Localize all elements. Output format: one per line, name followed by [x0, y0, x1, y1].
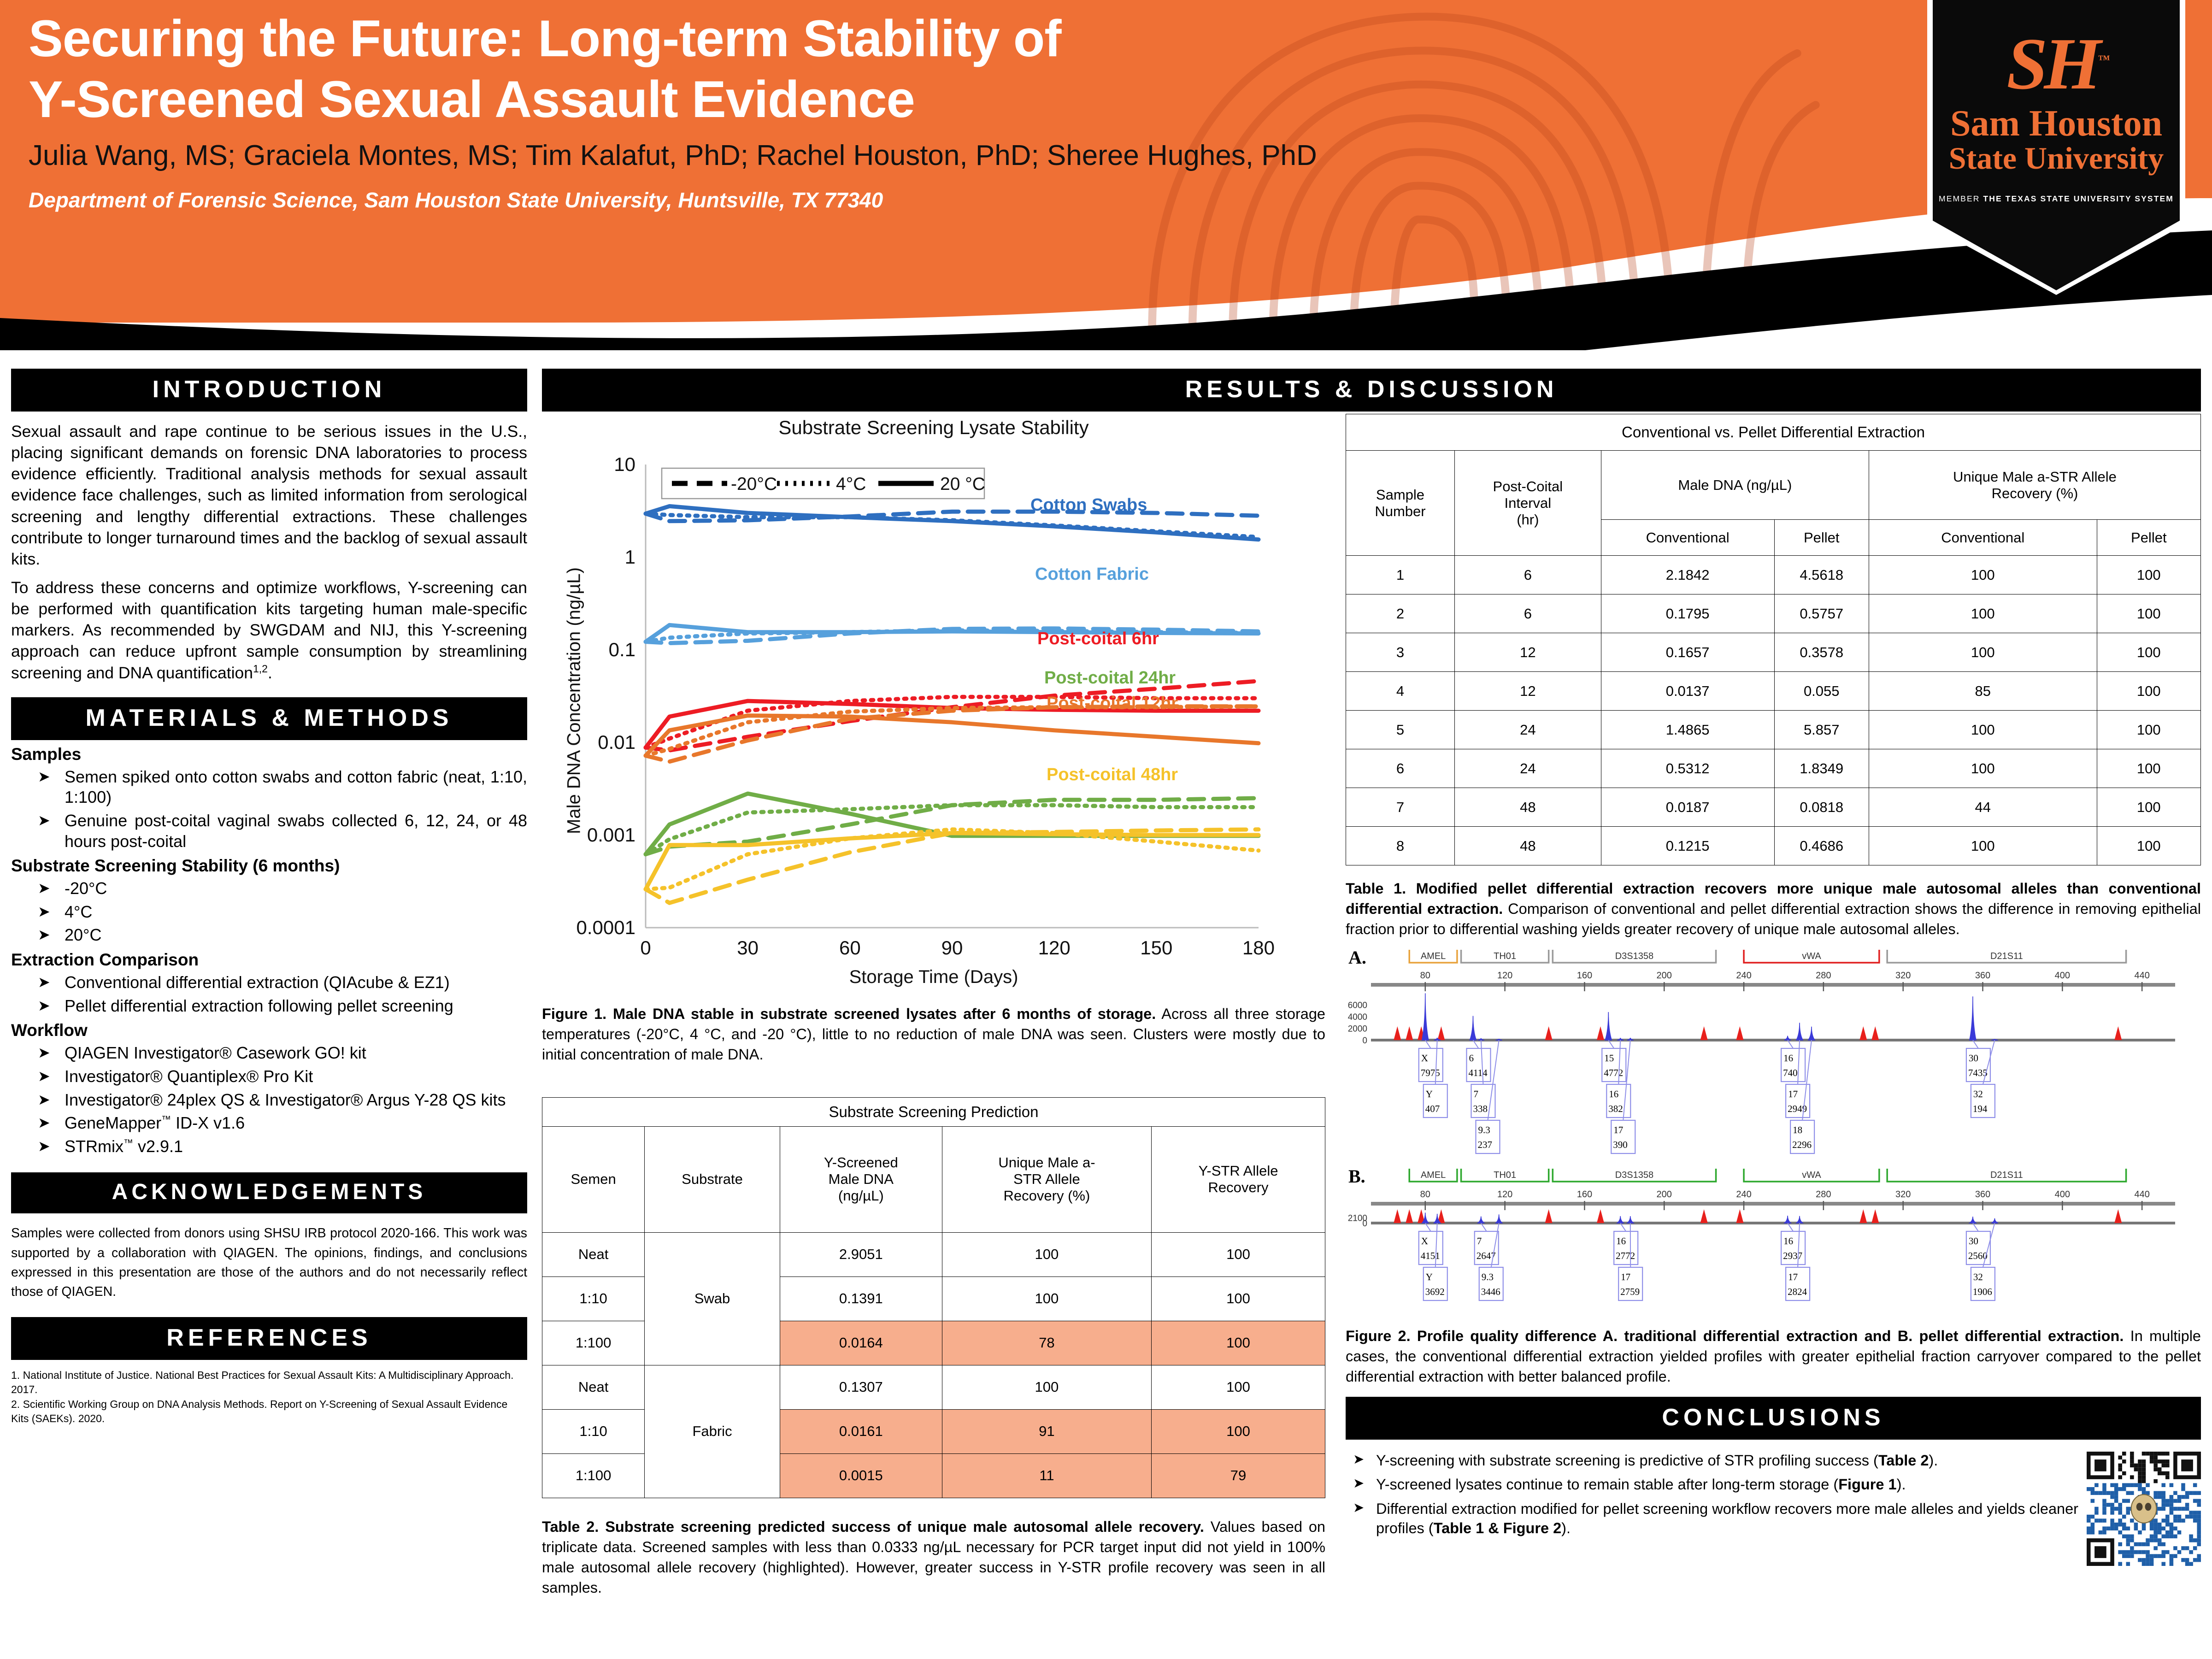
list-item: ➤Investigator® Quantiplex® Pro Kit — [11, 1066, 527, 1087]
table2-cell-ystr: 100 — [1152, 1232, 1325, 1277]
author-list: Julia Wang, MS; Graciela Montes, MS; Tim… — [29, 140, 1688, 171]
table1-group-male-dna: Male DNA (ng/µL) — [1601, 451, 1869, 520]
table2-col-substrate: Substrate — [645, 1126, 780, 1232]
epg-allele-rfu: 390 — [1613, 1139, 1628, 1150]
title-line-2: Y-Screened Sexual Assault Evidence — [29, 69, 1688, 130]
table-row: 4120.01370.05585100 — [1346, 672, 2201, 711]
table1-cell-rec-pellet: 100 — [2097, 672, 2200, 711]
list-item-label: 4°C — [65, 902, 92, 921]
epg-axis-tick: 360 — [1975, 1189, 1990, 1200]
list-item-label: Genuine post-coital vaginal swabs collec… — [65, 811, 527, 851]
table2-cell-male-dna: 0.1391 — [780, 1277, 942, 1321]
epg-allele-rfu: 4772 — [1604, 1067, 1623, 1078]
section-header-acknowledgements: ACKNOWLEDGEMENTS — [11, 1172, 527, 1213]
table2-col-male-dna: Y-ScreenedMale DNA(ng/µL) — [780, 1126, 942, 1232]
epg-allele-number: 15 — [1604, 1053, 1614, 1064]
epg-allele-number: 7 — [1477, 1235, 1482, 1247]
epg-allele-rfu: 740 — [1783, 1067, 1798, 1078]
chart-legend-label: -20°C — [731, 474, 777, 494]
epg-allele-rfu: 338 — [1473, 1103, 1488, 1114]
list-item: ➤Investigator® 24plex QS & Investigator®… — [11, 1090, 527, 1111]
epg-allele-rfu: 2759 — [1620, 1286, 1640, 1297]
arrow-bullet-icon: ➤ — [38, 1067, 50, 1086]
table1-cell-dna-conv: 1.4865 — [1601, 711, 1774, 749]
epg-panel-letter: B. — [1348, 1169, 1365, 1187]
table1-cell-sample: 8 — [1346, 827, 1455, 865]
table1-cell-rec-pellet: 100 — [2097, 594, 2200, 633]
table-row: 162.18424.5618100100 — [1346, 556, 2201, 594]
section-header-references: REFERENCES — [11, 1317, 527, 1360]
table2-cell-semen: 1:100 — [542, 1453, 645, 1498]
table1-cell-sample: 5 — [1346, 711, 1455, 749]
table1-cell-dna-conv: 0.1657 — [1601, 633, 1774, 672]
epg-allele-number: 9.3 — [1482, 1271, 1494, 1282]
table2-cell-semen: 1:10 — [542, 1409, 645, 1453]
arrow-bullet-icon: ➤ — [1353, 1451, 1364, 1469]
affiliation: Department of Forensic Science, Sam Hous… — [29, 188, 1688, 212]
section-header-conclusions: CONCLUSIONS — [1346, 1397, 2201, 1440]
epg-locus-box: D21S11 — [1887, 950, 2126, 963]
epg-locus-label: vWA — [1802, 1170, 1821, 1180]
reference-item: 1. National Institute of Justice. Nation… — [11, 1368, 527, 1397]
chart-y-tick-label: 0.01 — [598, 731, 635, 753]
epg-locus-label: D21S11 — [1990, 951, 2023, 961]
epg-axis-tick: 360 — [1975, 971, 1990, 981]
epg-allele-peak — [1796, 1216, 1803, 1223]
table2-cell-ystr: 100 — [1152, 1409, 1325, 1453]
table1-cell-dna-pellet: 4.5618 — [1774, 556, 1869, 594]
epg-locus-label: TH01 — [1494, 1170, 1516, 1180]
epg-allele-rfu: 7975 — [1421, 1067, 1440, 1078]
results-bar-label: RESULTS & DISCUSSION — [542, 369, 2201, 412]
arrow-bullet-icon: ➤ — [38, 879, 50, 898]
conclusion-reference: Table 1 & Figure 2 — [1434, 1520, 1562, 1536]
arrow-bullet-icon: ➤ — [38, 1114, 50, 1132]
table1-col-interval: Post-CoitalInterval(hr) — [1454, 451, 1601, 556]
list-item: ➤Genuine post-coital vaginal swabs colle… — [11, 811, 527, 852]
chart-x-tick-label: 180 — [1242, 937, 1275, 959]
table1-caption: Table 1. Modified pellet differential ex… — [1346, 878, 2201, 940]
table1-cell-sample: 4 — [1346, 672, 1455, 711]
epg-locus-box: vWA — [1744, 950, 1879, 963]
epg-allele-rfu: 194 — [1973, 1103, 1988, 1114]
right-column: Conventional vs. Pellet Differential Ext… — [1346, 414, 2201, 1566]
table1-extraction-comparison: Conventional vs. Pellet Differential Ext… — [1346, 414, 2201, 865]
table2-cell-semen: 1:10 — [542, 1277, 645, 1321]
epg-allele-peak — [1991, 1218, 1998, 1223]
epg-allele-rfu: 2824 — [1788, 1286, 1807, 1297]
list-item-label: 20°C — [65, 925, 101, 944]
table1-cell-dna-pellet: 0.5757 — [1774, 594, 1869, 633]
epg-locus-box: vWA — [1744, 1169, 1879, 1182]
table1-cell-rec-conv: 100 — [1869, 711, 2097, 749]
table1-sub-conv-rec: Conventional — [1869, 520, 2097, 556]
epg-allele-rfu: 237 — [1477, 1139, 1492, 1150]
epg-locus-label: TH01 — [1494, 951, 1516, 961]
epg-allele-rfu: 3446 — [1481, 1286, 1500, 1297]
table2-caption: Table 2. Substrate screening predicted s… — [542, 1517, 1325, 1598]
table2-cell-substrate: Swab — [645, 1232, 780, 1365]
epg-locus-box: D3S1358 — [1553, 950, 1716, 963]
list-item: ➤20°C — [11, 925, 527, 946]
epg-allele-peak — [1422, 993, 1429, 1040]
epg-axis-tick: 320 — [1895, 1189, 1911, 1200]
epg-allele-peak — [1796, 1023, 1803, 1040]
arrow-bullet-icon: ➤ — [1353, 1475, 1364, 1493]
epg-allele-peak — [1605, 1012, 1612, 1040]
intro-p2-end: . — [268, 664, 272, 682]
table1-cell-dna-pellet: 5.857 — [1774, 711, 1869, 749]
table1-cell-interval: 6 — [1454, 594, 1601, 633]
chart-group-label: Post-coital 6hr — [1037, 629, 1159, 648]
arrow-bullet-icon: ➤ — [38, 973, 50, 992]
table2-cell-astr: 100 — [942, 1232, 1151, 1277]
table1-cell-dna-pellet: 0.4686 — [1774, 827, 1869, 865]
epg-panel-a: A.AMELTH01D3S1358vWAD21S1180120160200240… — [1346, 950, 2201, 1166]
list-item-label: -20°C — [65, 879, 107, 898]
arrow-bullet-icon: ➤ — [38, 1137, 50, 1156]
table1-cell-interval: 24 — [1454, 749, 1601, 788]
epg-allele-number: X — [1421, 1053, 1428, 1064]
list-item: ➤-20°C — [11, 878, 527, 899]
chart-group-label: Cotton Fabric — [1035, 565, 1149, 584]
conclusion-text-end: ). — [1561, 1520, 1571, 1536]
materials-group-heading: Samples — [11, 745, 527, 764]
epg-allele-number: 17 — [1621, 1271, 1630, 1282]
table1-cell-interval: 12 — [1454, 672, 1601, 711]
table1-cell-rec-pellet: 100 — [2097, 749, 2200, 788]
list-item-label: Investigator® Quantiplex® Pro Kit — [65, 1067, 313, 1086]
table2-cell-ystr: 100 — [1152, 1321, 1325, 1365]
conclusion-item: ➤Y-screening with substrate screening is… — [1346, 1451, 2078, 1470]
epg-allele-number: 16 — [1783, 1053, 1793, 1064]
member-prefix: MEMBER — [1939, 194, 1983, 203]
section-header-results: RESULTS & DISCUSSION — [542, 369, 2201, 412]
epg-panel-b: B.AMELTH01D3S1358vWAD21S1180120160200240… — [1346, 1169, 2201, 1321]
table1-sub-conv-dna: Conventional — [1601, 520, 1774, 556]
arrow-bullet-icon: ➤ — [38, 1091, 50, 1109]
table2-cell-astr: 100 — [942, 1277, 1151, 1321]
epg-allele-rfu: 2296 — [1792, 1139, 1812, 1150]
table1-cell-sample: 6 — [1346, 749, 1455, 788]
conclusions-body: ➤Y-screening with substrate screening is… — [1346, 1446, 2201, 1566]
epg-locus-box: AMEL — [1409, 1169, 1457, 1182]
table1-cell-rec-pellet: 100 — [2097, 827, 2200, 865]
epg-locus-box: TH01 — [1461, 950, 1549, 963]
table1-cell-rec-conv: 44 — [1869, 788, 2097, 827]
table1-cell-interval: 12 — [1454, 633, 1601, 672]
epg-axis-tick: 160 — [1577, 1189, 1592, 1200]
materials-group-list: ➤QIAGEN Investigator® Casework GO! kit➤I… — [11, 1043, 527, 1157]
epg-allele-number: 32 — [1973, 1088, 1983, 1100]
table-row: NeatSwab2.9051100100 — [542, 1232, 1325, 1277]
epg-allele-number: 18 — [1793, 1124, 1802, 1135]
chart-legend-label: 4°C — [836, 474, 866, 494]
figure2-caption-bold: Figure 2. Profile quality difference A. … — [1346, 1328, 2124, 1344]
table1-cell-interval: 24 — [1454, 711, 1601, 749]
table1-title: Conventional vs. Pellet Differential Ext… — [1346, 414, 2201, 451]
table1-cell-interval: 48 — [1454, 788, 1601, 827]
table-row: 6240.53121.8349100100 — [1346, 749, 2201, 788]
conclusion-item: ➤Differential extraction modified for pe… — [1346, 1499, 2078, 1538]
epg-allele-number: 7 — [1473, 1088, 1478, 1100]
table2-col-ystr: Y-STR AlleleRecovery — [1152, 1126, 1325, 1232]
epg-allele-call: 64114 — [1466, 1040, 1490, 1082]
epg-allele-peak — [1784, 1035, 1791, 1040]
epg-locus-box: D3S1358 — [1553, 1169, 1716, 1182]
epg-allele-rfu: 407 — [1425, 1103, 1440, 1114]
logo-name-line-2: State University — [1949, 142, 2164, 175]
epg-axis-tick: 440 — [2134, 971, 2149, 981]
table-row: 8480.12150.4686100100 — [1346, 827, 2201, 865]
table1-cell-rec-pellet: 100 — [2097, 788, 2200, 827]
chart-y-tick-label: 10 — [614, 453, 635, 475]
left-column: INTRODUCTION Sexual assault and rape con… — [11, 369, 527, 1426]
intro-paragraph-2: To address these concerns and optimize w… — [11, 577, 527, 683]
logo-name-line-1: Sam Houston — [1950, 105, 2162, 142]
chart-y-tick-label: 1 — [625, 546, 635, 568]
poster-header: Securing the Future: Long-term Stability… — [0, 0, 2212, 350]
epg-allele-call: 16740 — [1781, 1040, 1805, 1082]
table1-cell-sample: 2 — [1346, 594, 1455, 633]
figure1-caption-bold: Figure 1. Male DNA stable in substrate s… — [542, 1006, 1156, 1022]
epg-allele-peak — [1478, 1216, 1484, 1223]
materials-group-list: ➤Conventional differential extraction (Q… — [11, 972, 527, 1016]
table1-cell-dna-pellet: 0.055 — [1774, 672, 1869, 711]
materials-group-list: ➤Semen spiked onto cotton swabs and cott… — [11, 767, 527, 852]
references-list: 1. National Institute of Justice. Nation… — [11, 1368, 527, 1426]
epg-axis-tick: 200 — [1657, 971, 1672, 981]
epg-allele-peak — [1496, 1214, 1502, 1223]
table2-cell-ystr: 100 — [1152, 1277, 1325, 1321]
table2-cell-astr: 100 — [942, 1365, 1151, 1409]
table2-cell-male-dna: 0.0164 — [780, 1321, 942, 1365]
table1-cell-dna-conv: 0.5312 — [1601, 749, 1774, 788]
table2-cell-semen: 1:100 — [542, 1321, 645, 1365]
epg-locus-label: AMEL — [1421, 1170, 1446, 1180]
chart-y-tick-label: 0.001 — [587, 824, 635, 846]
chart-x-tick-label: 90 — [941, 937, 963, 959]
epg-allele-call: 154772 — [1602, 1040, 1626, 1082]
table2-cell-astr: 11 — [942, 1453, 1151, 1498]
list-item: ➤Conventional differential extraction (Q… — [11, 972, 527, 993]
epg-locus-label: D21S11 — [1990, 1170, 2023, 1180]
epg-axis-tick: 280 — [1816, 1189, 1831, 1200]
table1-cell-rec-conv: 100 — [1869, 556, 2097, 594]
arrow-bullet-icon: ➤ — [38, 926, 50, 944]
chart-y-tick-label: 0.0001 — [577, 917, 635, 938]
epg-allele-number: 16 — [1783, 1235, 1793, 1247]
list-item-label: GeneMapper™ ID-X v1.6 — [65, 1113, 245, 1132]
epg-allele-peak — [1808, 1026, 1815, 1040]
table2-col-astr: Unique Male a-STR AlleleRecovery (%) — [942, 1126, 1151, 1232]
figure1-caption: Figure 1. Male DNA stable in substrate s… — [542, 1004, 1325, 1065]
table1-cell-dna-conv: 2.1842 — [1601, 556, 1774, 594]
table2-caption-bold: Table 2. Substrate screening predicted s… — [542, 1518, 1204, 1535]
list-item: ➤GeneMapper™ ID-X v1.6 — [11, 1113, 527, 1134]
epg-axis-tick: 400 — [2055, 971, 2070, 981]
epg-allele-number: 17 — [1613, 1124, 1623, 1135]
table2-cell-astr: 91 — [942, 1409, 1151, 1453]
table1-cell-interval: 6 — [1454, 556, 1601, 594]
table1-cell-rec-conv: 100 — [1869, 827, 2097, 865]
epg-allele-number: Y — [1426, 1271, 1433, 1282]
table2-cell-semen: Neat — [542, 1365, 645, 1409]
table2-col-semen: Semen — [542, 1126, 645, 1232]
table1-cell-rec-conv: 100 — [1869, 633, 2097, 672]
epg-locus-label: vWA — [1802, 951, 1821, 961]
list-item-label: Investigator® 24plex QS & Investigator® … — [65, 1090, 506, 1109]
epg-allele-rfu: 4151 — [1421, 1250, 1440, 1261]
table2-cell-ystr: 100 — [1152, 1365, 1325, 1409]
epg-y-tick: 4000 — [1348, 1012, 1367, 1022]
epg-allele-number: 6 — [1469, 1053, 1474, 1064]
section-header-introduction: INTRODUCTION — [11, 369, 527, 412]
materials-group-heading: Substrate Screening Stability (6 months) — [11, 856, 527, 876]
table1-sub-pellet-rec: Pellet — [2097, 520, 2200, 556]
chart-group-label: Post-coital 48hr — [1047, 765, 1178, 784]
epg-allele-number: 17 — [1788, 1271, 1798, 1282]
table1-cell-sample: 7 — [1346, 788, 1455, 827]
chart-legend-label: 20 °C — [940, 474, 985, 494]
epg-allele-number: 16 — [1609, 1088, 1618, 1100]
epg-axis-tick: 280 — [1816, 971, 1831, 981]
table2-cell-male-dna: 0.1307 — [780, 1365, 942, 1409]
table2-cell-male-dna: 0.0161 — [780, 1409, 942, 1453]
chart-y-tick-label: 0.1 — [609, 639, 635, 660]
epg-allele-peak — [1617, 1216, 1624, 1223]
table1-cell-dna-conv: 0.1795 — [1601, 594, 1774, 633]
list-item: ➤Pellet differential extraction followin… — [11, 996, 527, 1017]
epg-allele-peak — [1627, 1216, 1634, 1223]
middle-column: Substrate Screening Lysate Stability Mal… — [542, 414, 1325, 1598]
table2-cell-male-dna: 2.9051 — [780, 1232, 942, 1277]
table1-cell-rec-conv: 100 — [1869, 749, 2097, 788]
chart-x-tick-label: 120 — [1038, 937, 1071, 959]
epg-allele-number: 30 — [1969, 1053, 1978, 1064]
chart-x-tick-label: 60 — [839, 937, 861, 959]
epg-locus-box: TH01 — [1461, 1169, 1549, 1182]
epg-allele-call: X7975 — [1419, 1040, 1443, 1082]
epg-allele-number: X — [1421, 1235, 1428, 1247]
shsu-logo: SH™ Sam Houston State University MEMBER … — [1927, 0, 2185, 295]
epg-allele-rfu: 2937 — [1783, 1250, 1802, 1261]
table-row: 3120.16570.3578100100 — [1346, 633, 2201, 672]
epg-axis-tick: 120 — [1497, 1189, 1512, 1200]
epg-allele-rfu: 2772 — [1616, 1250, 1635, 1261]
table1-col-sample: SampleNumber — [1346, 451, 1455, 556]
epg-allele-rfu: 4114 — [1468, 1067, 1488, 1078]
epg-axis-tick: 80 — [1420, 971, 1430, 981]
table1-cell-rec-pellet: 100 — [2097, 556, 2200, 594]
table2-substrate-screening: Substrate Screening PredictionSemenSubst… — [542, 1097, 1325, 1498]
table2-cell-substrate: Fabric — [645, 1365, 780, 1498]
list-item: ➤QIAGEN Investigator® Casework GO! kit — [11, 1043, 527, 1064]
page-title: Securing the Future: Long-term Stability… — [29, 8, 1688, 130]
list-item-label: QIAGEN Investigator® Casework GO! kit — [65, 1043, 366, 1062]
conclusion-item: ➤Y-screened lysates continue to remain s… — [1346, 1475, 2078, 1494]
table-row: 7480.01870.081844100 — [1346, 788, 2201, 827]
table-row: 5241.48655.857100100 — [1346, 711, 2201, 749]
epg-locus-label: D3S1358 — [1615, 1170, 1653, 1180]
epg-allele-rfu: 382 — [1608, 1103, 1623, 1114]
list-item-label: Conventional differential extraction (QI… — [65, 973, 450, 992]
table1-cell-sample: 1 — [1346, 556, 1455, 594]
chart-series-line — [646, 829, 1259, 903]
epg-axis-tick: 200 — [1657, 1189, 1672, 1200]
table1-group-astr: Unique Male a-STR AlleleRecovery (%) — [1869, 451, 2200, 520]
chart-x-tick-label: 30 — [737, 937, 759, 959]
conclusions-list: ➤Y-screening with substrate screening is… — [1346, 1446, 2078, 1566]
qr-code[interactable] — [2087, 1452, 2201, 1566]
epg-y-tick: 6000 — [1348, 1000, 1367, 1010]
section-header-materials: MATERIALS & METHODS — [11, 697, 527, 740]
epg-axis-tick: 120 — [1497, 971, 1512, 981]
intro-paragraph-1: Sexual assault and rape continue to be s… — [11, 421, 527, 570]
epg-axis-tick: 80 — [1420, 1189, 1430, 1200]
list-item-label: Semen spiked onto cotton swabs and cotto… — [65, 767, 527, 807]
epg-axis-tick: 440 — [2134, 1189, 2149, 1200]
epg-allele-peak — [1970, 1217, 1976, 1223]
title-block: Securing the Future: Long-term Stability… — [29, 8, 1688, 212]
materials-methods-groups: Samples➤Semen spiked onto cotton swabs a… — [11, 745, 527, 1157]
table1-cell-dna-pellet: 0.3578 — [1774, 633, 1869, 672]
table1-cell-interval: 48 — [1454, 827, 1601, 865]
chart-x-tick-label: 150 — [1140, 937, 1172, 959]
epg-allele-call: 302560 — [1966, 1223, 1990, 1265]
chart-canvas: 1010.10.010.0010.00010306090120150180Cot… — [542, 414, 1325, 999]
epg-allele-number: 9.3 — [1478, 1124, 1490, 1135]
materials-group-list: ➤-20°C➤4°C➤20°C — [11, 878, 527, 946]
epg-axis-tick: 240 — [1736, 1189, 1751, 1200]
epg-locus-box: AMEL — [1409, 950, 1457, 963]
table1-sub-pellet-dna: Pellet — [1774, 520, 1869, 556]
table1-cell-dna-conv: 0.0187 — [1601, 788, 1774, 827]
arrow-bullet-icon: ➤ — [1353, 1500, 1364, 1517]
epg-locus-label: AMEL — [1421, 951, 1446, 961]
table1-cell-dna-conv: 0.1215 — [1601, 827, 1774, 865]
conclusion-text-end: ). — [1897, 1476, 1906, 1493]
chart-group-label: Cotton Swabs — [1030, 495, 1147, 515]
epg-axis-tick: 160 — [1577, 971, 1592, 981]
materials-group-heading: Extraction Comparison — [11, 950, 527, 970]
logo-member-line: MEMBER THE TEXAS STATE UNIVERSITY SYSTEM — [1939, 194, 2174, 204]
arrow-bullet-icon: ➤ — [38, 997, 50, 1015]
list-item-label: STRmix™ v2.9.1 — [65, 1137, 183, 1156]
epg-allele-number: 17 — [1788, 1088, 1798, 1100]
table-row: NeatFabric0.1307100100 — [542, 1365, 1325, 1409]
acknowledgements-text: Samples were collected from donors using… — [11, 1224, 527, 1301]
epg-allele-number: 16 — [1616, 1235, 1626, 1247]
list-item-label: Pellet differential extraction following… — [65, 996, 453, 1015]
conclusion-text: Y-screening with substrate screening is … — [1376, 1452, 1878, 1469]
epg-allele-number: 32 — [1973, 1271, 1983, 1282]
figure2-electropherograms: A.AMELTH01D3S1358vWAD21S1180120160200240… — [1346, 950, 2201, 1323]
table1-cell-dna-pellet: 1.8349 — [1774, 749, 1869, 788]
table1-cell-dna-pellet: 0.0818 — [1774, 788, 1869, 827]
epg-y-tick: 0 — [1362, 1036, 1367, 1046]
chart-group-label: Post-coital 24hr — [1044, 668, 1176, 688]
epg-allele-call: 307435 — [1966, 1040, 1990, 1082]
list-item: ➤STRmix™ v2.9.1 — [11, 1136, 527, 1157]
epg-allele-rfu: 1906 — [1973, 1286, 1992, 1297]
table2-title: Substrate Screening Prediction — [542, 1097, 1325, 1126]
intro-citation: 1,2 — [253, 663, 268, 675]
figure1-chart: Substrate Screening Lysate Stability Mal… — [542, 414, 1325, 999]
arrow-bullet-icon: ➤ — [38, 1044, 50, 1062]
epg-allele-number: 30 — [1969, 1235, 1978, 1247]
table1-cell-rec-pellet: 100 — [2097, 633, 2200, 672]
